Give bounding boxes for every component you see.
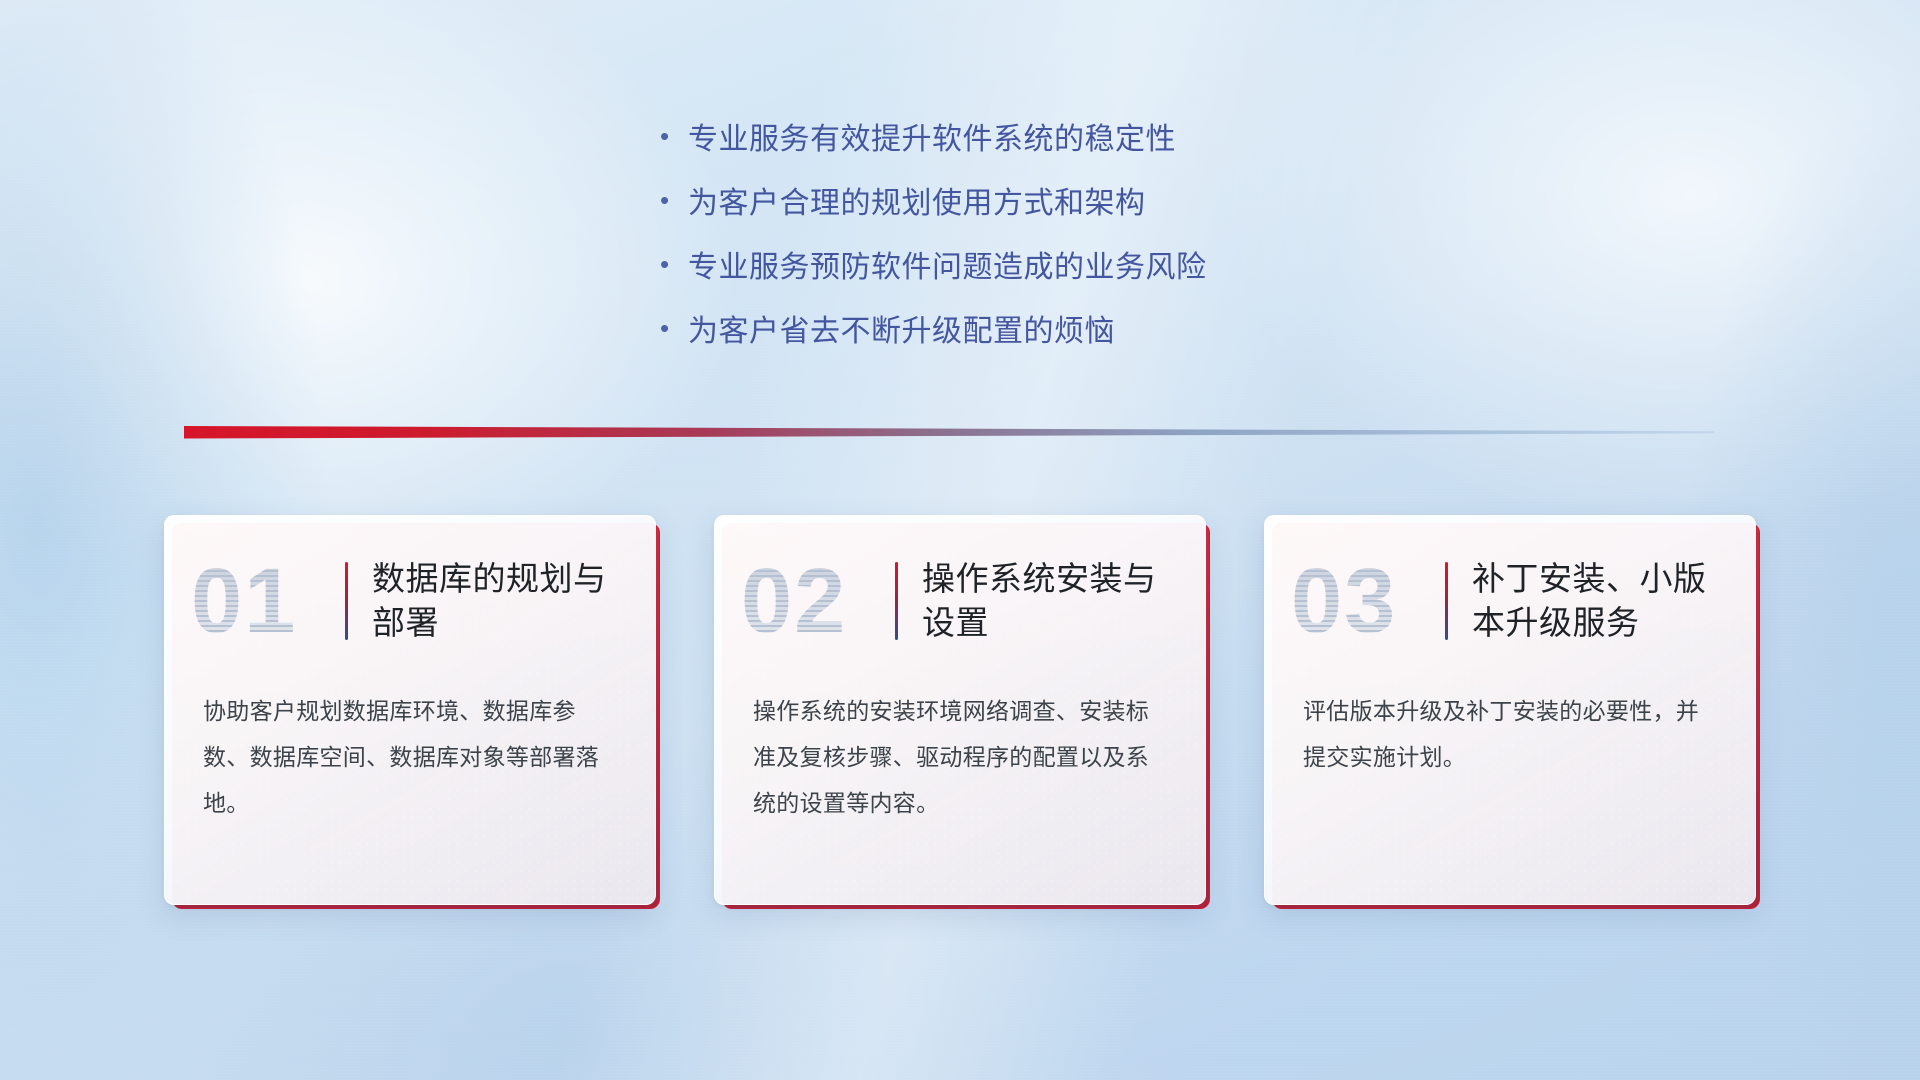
card-number-text: 02	[741, 555, 891, 647]
card-description: 操作系统的安装环境网络调查、安装标准及复核步骤、驱动程序的配置以及系统的设置等内…	[715, 686, 1205, 826]
card-divider-rule	[1445, 562, 1448, 640]
service-card-01[interactable]: 01 数据库的规划与部署 协助客户规划数据库环境、数据库参数、数据库空间、数据库…	[164, 515, 656, 905]
bullet-text: 为客户合理的规划使用方式和架构	[688, 178, 1146, 222]
card-number: 01	[191, 555, 341, 647]
card-description: 协助客户规划数据库环境、数据库参数、数据库空间、数据库对象等部署落地。	[165, 686, 655, 826]
bullet-text: 专业服务预防软件问题造成的业务风险	[688, 242, 1207, 286]
card-number-text: 03	[1291, 555, 1441, 647]
slide-canvas: • 专业服务有效提升软件系统的稳定性 • 为客户合理的规划使用方式和架构 • 专…	[0, 0, 1920, 1080]
card-title: 补丁安装、小版本升级服务	[1472, 557, 1729, 645]
list-item: • 为客户合理的规划使用方式和架构	[660, 168, 1207, 232]
service-card-02[interactable]: 02 操作系统安装与设置 操作系统的安装环境网络调查、安装标准及复核步骤、驱动程…	[714, 515, 1206, 905]
section-divider	[184, 422, 1714, 442]
bullet-marker-icon: •	[660, 123, 688, 149]
card-header: 02 操作系统安装与设置	[715, 516, 1205, 686]
card-title: 操作系统安装与设置	[922, 557, 1179, 645]
bullet-marker-icon: •	[660, 251, 688, 277]
card-header: 03 补丁安装、小版本升级服务	[1265, 516, 1755, 686]
card-number: 02	[741, 555, 891, 647]
card-title: 数据库的规划与部署	[372, 557, 629, 645]
list-item: • 专业服务有效提升软件系统的稳定性	[660, 104, 1207, 168]
card-divider-rule	[345, 562, 348, 640]
benefits-bullet-list: • 专业服务有效提升软件系统的稳定性 • 为客户合理的规划使用方式和架构 • 专…	[660, 104, 1207, 360]
bullet-marker-icon: •	[660, 187, 688, 213]
bullet-text: 专业服务有效提升软件系统的稳定性	[688, 114, 1176, 158]
card-description: 评估版本升级及补丁安装的必要性，并提交实施计划。	[1265, 686, 1755, 780]
card-header: 01 数据库的规划与部署	[165, 516, 655, 686]
card-divider-rule	[895, 562, 898, 640]
service-card-03[interactable]: 03 补丁安装、小版本升级服务 评估版本升级及补丁安装的必要性，并提交实施计划。	[1264, 515, 1756, 905]
list-item: • 专业服务预防软件问题造成的业务风险	[660, 232, 1207, 296]
bullet-marker-icon: •	[660, 315, 688, 341]
divider-shape-icon	[184, 422, 1714, 442]
bullet-text: 为客户省去不断升级配置的烦恼	[688, 306, 1115, 350]
list-item: • 为客户省去不断升级配置的烦恼	[660, 296, 1207, 360]
service-card-group: 01 数据库的规划与部署 协助客户规划数据库环境、数据库参数、数据库空间、数据库…	[0, 515, 1920, 935]
card-number: 03	[1291, 555, 1441, 647]
card-number-text: 01	[191, 555, 341, 647]
